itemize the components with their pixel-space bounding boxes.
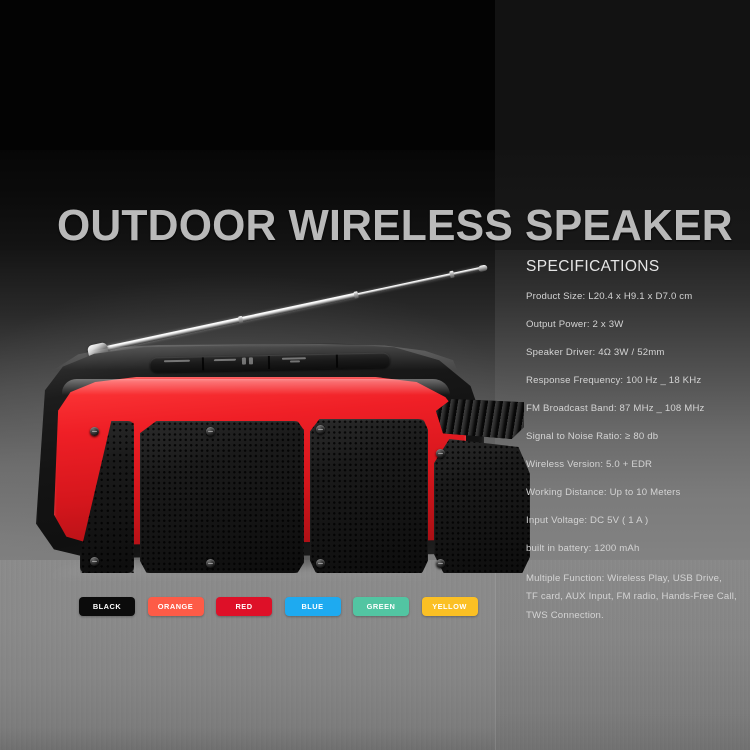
speaker-body (36, 343, 484, 558)
button-divider (268, 356, 270, 369)
specification-item: Speaker Driver: 4Ω 3W / 52mm (526, 346, 741, 361)
specification-item: Output Power: 2 x 3W (526, 318, 741, 333)
color-swatch-yellow[interactable]: YELLOW (422, 597, 478, 616)
hex-screw-icon (90, 557, 99, 566)
color-swatch-red[interactable]: RED (216, 597, 272, 616)
speaker-red-trim (54, 377, 466, 545)
background-top-right-panel (495, 0, 750, 150)
product-marketing-page: OUTDOOR WIRELESS SPEAKER (0, 0, 750, 750)
antenna-tip (478, 264, 488, 272)
specification-item: Product Size: L20.4 x H9.1 x D7.0 cm (526, 290, 741, 305)
hex-screw-icon (206, 427, 215, 436)
specification-item: Signal to Noise Ratio: ≥ 80 db (526, 430, 741, 445)
specifications-panel: SPECIFICATIONS Product Size: L20.4 x H9.… (526, 258, 741, 626)
hex-screw-icon (90, 427, 99, 436)
grille-panel-main (140, 421, 304, 573)
perforation-pattern (310, 419, 428, 573)
perforation-pattern (434, 439, 530, 573)
color-swatch-blue[interactable]: BLUE (285, 597, 341, 616)
hex-screw-icon (206, 559, 215, 568)
perforation-pattern (140, 421, 304, 573)
louver-vent-icon (436, 399, 524, 439)
color-options-row[interactable]: BLACKORANGEREDBLUEGREENYELLOW (79, 597, 478, 616)
hex-screw-icon (436, 449, 445, 458)
color-swatch-orange[interactable]: ORANGE (148, 597, 204, 616)
color-swatch-green[interactable]: GREEN (353, 597, 409, 616)
grille-panel-right-hex (434, 439, 530, 573)
specifications-heading: SPECIFICATIONS (526, 258, 741, 276)
button-glyph-prev (214, 359, 237, 361)
button-glyph-next-tail (290, 360, 300, 362)
button-divider (336, 355, 338, 368)
specification-item: FM Broadcast Band: 87 MHz _ 108 MHz (526, 402, 741, 417)
button-glyph-power (164, 360, 190, 363)
button-divider (202, 357, 204, 370)
antenna-icon (96, 264, 488, 353)
vent-louvers (436, 399, 524, 439)
background-top-left-block (0, 0, 495, 150)
color-swatch-black[interactable]: BLACK (79, 597, 135, 616)
antenna-segment (355, 273, 454, 298)
hex-screw-icon (436, 559, 445, 568)
antenna-segment (239, 293, 357, 323)
specification-item: Wireless Version: 5.0 + EDR (526, 458, 741, 473)
grille-panel-middle (310, 419, 428, 573)
button-glyph-pause (249, 357, 253, 364)
product-image (0, 255, 500, 575)
page-title: OUTDOOR WIRELESS SPEAKER (57, 201, 697, 251)
hex-screw-icon (316, 425, 325, 434)
background-metal-seam (495, 560, 496, 750)
hex-screw-icon (316, 559, 325, 568)
specification-item: built in battery: 1200 mAh (526, 542, 741, 557)
button-glyph-next (282, 357, 306, 360)
specifications-list: Product Size: L20.4 x H9.1 x D7.0 cmOutp… (526, 290, 741, 626)
specification-item: Response Frequency: 100 Hz _ 18 KHz (526, 374, 741, 389)
button-glyph-pause (242, 358, 246, 365)
specification-item: Multiple Function: Wireless Play, USB Dr… (526, 570, 741, 626)
specification-item: Input Voltage: DC 5V ( 1 A ) (526, 514, 741, 529)
specification-item: Working Distance: Up to 10 Meters (526, 486, 741, 501)
